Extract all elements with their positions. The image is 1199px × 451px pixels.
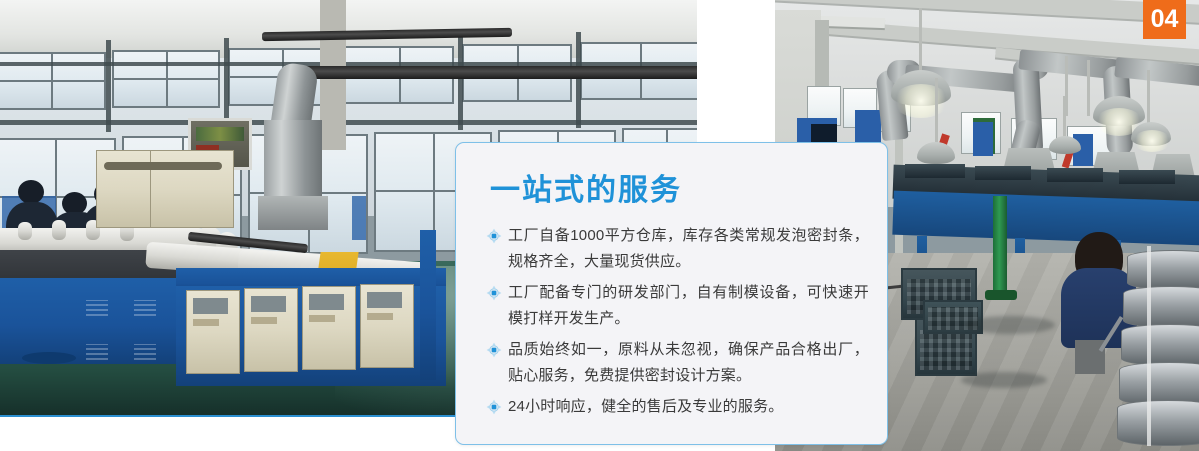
list-item-text: 工厂自备1000平方仓库，库存各类常规发泡密封条，规格齐全，大量现货供应。 <box>508 223 869 275</box>
compass-bullet-icon <box>486 399 502 415</box>
compass-bullet-icon <box>486 342 502 358</box>
promo-banner: 04 一站式的服务 <box>0 0 1199 451</box>
list-item: 24小时响应，健全的售后及专业的服务。 <box>486 394 869 420</box>
list-item-text: 工厂配备专门的研发部门，自有制模设备，可快速开模打样开发生产。 <box>508 280 869 332</box>
list-item-text: 品质始终如一，原料从未忽视，确保产品合格出厂，贴心服务，免费提供密封设计方案。 <box>508 337 869 389</box>
list-item: 工厂配备专门的研发部门，自有制模设备，可快速开模打样开发生产。 <box>486 280 869 332</box>
list-item: 品质始终如一，原料从未忽视，确保产品合格出厂，贴心服务，免费提供密封设计方案。 <box>486 337 869 389</box>
step-number-badge: 04 <box>1143 0 1186 39</box>
compass-bullet-icon <box>486 285 502 301</box>
list-item-text: 24小时响应，健全的售后及专业的服务。 <box>508 394 869 420</box>
service-feature-list: 工厂自备1000平方仓库，库存各类常规发泡密封条，规格齐全，大量现货供应。 <box>486 223 869 425</box>
compass-bullet-icon <box>486 228 502 244</box>
list-item: 工厂自备1000平方仓库，库存各类常规发泡密封条，规格齐全，大量现货供应。 <box>486 223 869 275</box>
card-title: 一站式的服务 <box>490 165 682 209</box>
step-number-text: 04 <box>1151 7 1179 32</box>
service-info-card: 一站式的服务 工厂自备1000平方仓库，库存各类 <box>455 142 888 445</box>
